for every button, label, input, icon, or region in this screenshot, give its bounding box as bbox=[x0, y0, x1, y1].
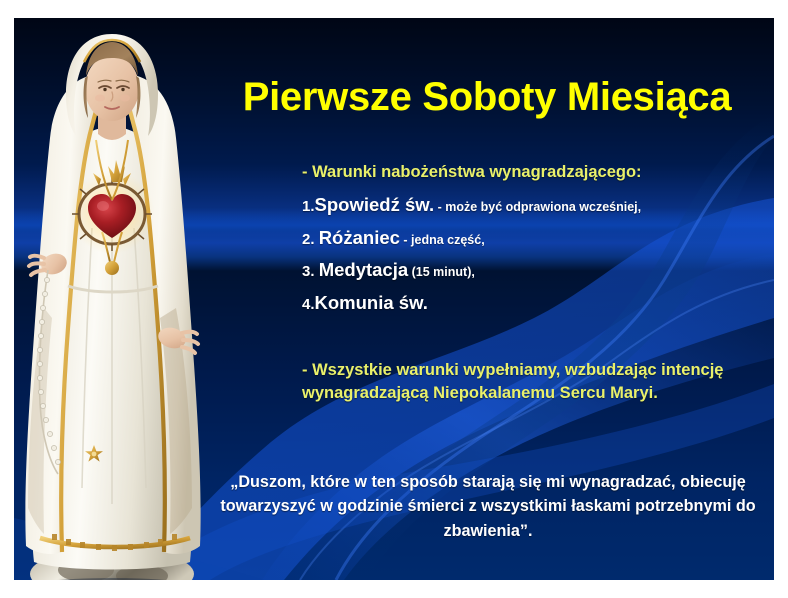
conditions-heading: - Warunki nabożeństwa wynagradzającego: bbox=[302, 164, 772, 182]
promise-quote: „Duszom, które w ten sposób starają się … bbox=[200, 470, 774, 543]
list-item: 2. Różaniec - jedna część, bbox=[302, 228, 772, 249]
list-item-number: 2. bbox=[302, 231, 319, 248]
list-item-detail: (15 minut), bbox=[408, 265, 475, 279]
list-item: 4.Komunia św. bbox=[302, 293, 772, 314]
list-item-number: 3. bbox=[302, 263, 319, 280]
list-item-main: Medytacja bbox=[319, 259, 408, 280]
slide-canvas: Pierwsze Soboty Miesiąca - Warunki naboż… bbox=[14, 18, 774, 580]
list-item-detail: - może być odprawiona wcześniej, bbox=[434, 200, 641, 214]
slide-title: Pierwsze Soboty Miesiąca bbox=[192, 76, 774, 118]
list-item-main: Komunia św. bbox=[315, 292, 428, 313]
list-item-main: Różaniec bbox=[319, 227, 400, 248]
list-item-detail: - jedna część, bbox=[400, 233, 485, 247]
list-item-main: Spowiedź św. bbox=[315, 194, 435, 215]
list-item: 3. Medytacja (15 minut), bbox=[302, 260, 772, 281]
list-item-number: 1. bbox=[302, 198, 315, 215]
intention-paragraph: - Wszystkie warunki wypełniamy, wzbudzaj… bbox=[302, 359, 764, 405]
conditions-list: - Warunki nabożeństwa wynagradzającego: … bbox=[302, 164, 772, 326]
list-item: 1.Spowiedź św. - może być odprawiona wcz… bbox=[302, 195, 772, 216]
list-item-number: 4. bbox=[302, 296, 315, 313]
